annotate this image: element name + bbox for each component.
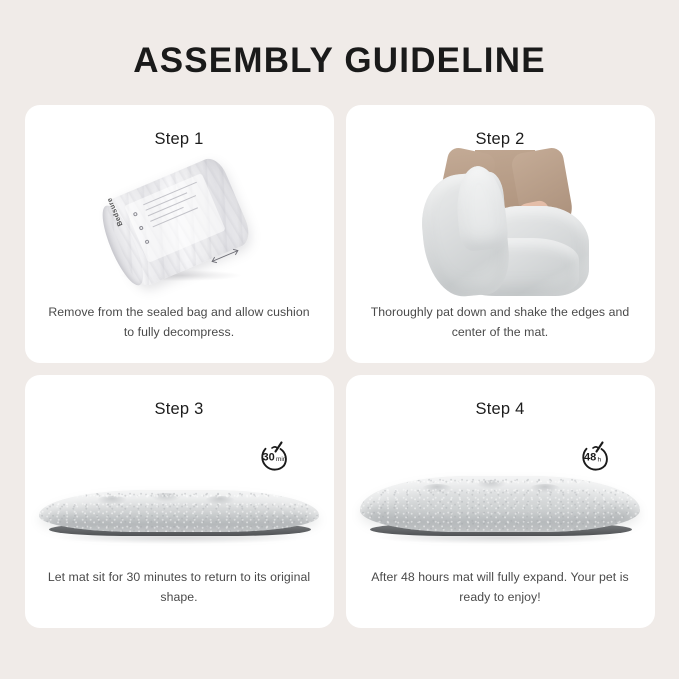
- mat-tuft: [151, 493, 181, 502]
- step-card-1: Step 1 Bedsure: [25, 105, 334, 363]
- step-3-figure: [25, 419, 334, 568]
- step-title: Step 1: [155, 130, 204, 149]
- mat-tuft: [97, 496, 127, 505]
- expanded-mat-side-view-icon: [360, 454, 640, 550]
- assembly-guideline-page: ASSEMBLY GUIDELINE Step 1 Bedsure: [0, 0, 679, 679]
- step-2-figure: [346, 149, 655, 303]
- step-card-2: Step 2 Thoroughly pat down and shake the…: [346, 105, 655, 363]
- step-1-figure: Bedsure: [25, 149, 334, 303]
- mat-tuft: [422, 484, 452, 493]
- step-caption: Remove from the sealed bag and allow cus…: [46, 303, 312, 363]
- mat-cushion-body: [39, 490, 319, 532]
- mat-cushion-body: [360, 476, 640, 532]
- sealed-bag-roll-icon: Bedsure: [99, 165, 259, 283]
- mat-tuft: [205, 496, 235, 505]
- step-title: Step 3: [155, 400, 204, 419]
- flat-mat-side-view-icon: [39, 454, 319, 550]
- step-caption: Let mat sit for 30 minutes to return to …: [46, 568, 312, 628]
- step-card-3: Step 3 30 min: [25, 375, 334, 628]
- step-title: Step 4: [476, 400, 525, 419]
- mat-tuft: [476, 480, 506, 489]
- step-caption: After 48 hours mat will fully expand. Yo…: [367, 568, 633, 628]
- step-card-4: Step 4 48 h: [346, 375, 655, 628]
- step-4-figure: [346, 419, 655, 568]
- page-title: ASSEMBLY GUIDELINE: [133, 42, 546, 81]
- step-caption: Thoroughly pat down and shake the edges …: [367, 303, 633, 363]
- steps-grid: Step 1 Bedsure: [25, 105, 655, 628]
- step-title: Step 2: [476, 130, 525, 149]
- mat-tuft: [530, 484, 560, 493]
- hands-shaking-mat-icon: [405, 150, 595, 296]
